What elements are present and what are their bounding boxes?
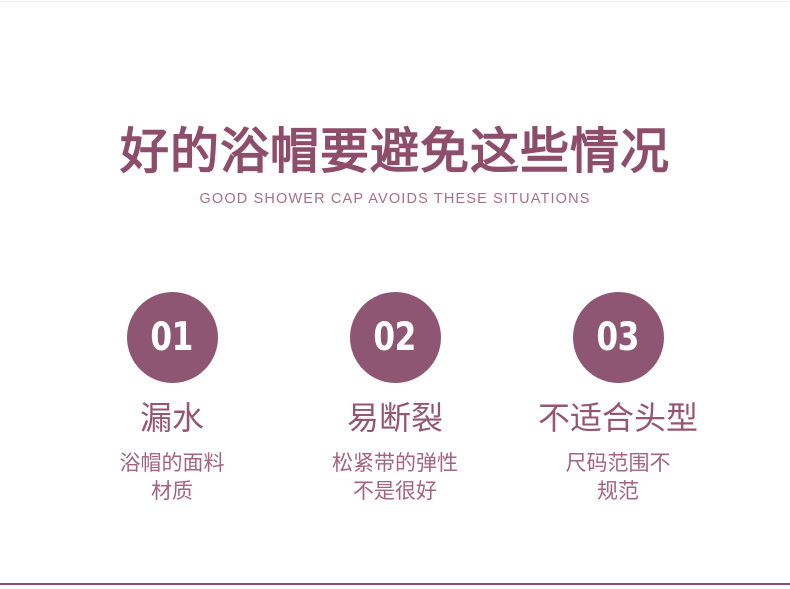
header-block: 好的浴帽要避免这些情况 GOOD SHOWER CAP AVOIDS THESE…	[0, 126, 790, 208]
feature-item-01: 01 漏水 浴帽的面料 材质	[61, 292, 284, 506]
badge-number-label: 01	[151, 318, 194, 357]
number-badge-03: 03	[573, 292, 664, 383]
number-badge-02: 02	[350, 292, 441, 383]
badge-number-label: 02	[374, 318, 417, 357]
feature-columns: 01 漏水 浴帽的面料 材质 02 易断裂 松紧带的弹性 不是很好 03 不适合…	[0, 292, 790, 506]
feature-heading-03: 不适合头型	[538, 401, 698, 437]
feature-description-01: 浴帽的面料 材质	[120, 450, 225, 506]
bottom-divider	[0, 583, 790, 585]
feature-item-03: 03 不适合头型 尺码范围不 规范	[507, 292, 730, 506]
feature-heading-01: 漏水	[140, 401, 204, 437]
feature-item-02: 02 易断裂 松紧带的弹性 不是很好	[284, 292, 507, 506]
top-divider	[0, 1, 790, 2]
promo-banner: 好的浴帽要避免这些情况 GOOD SHOWER CAP AVOIDS THESE…	[0, 0, 790, 589]
feature-description-03: 尺码范围不 规范	[566, 450, 671, 506]
number-badge-01: 01	[127, 292, 218, 383]
feature-heading-02: 易断裂	[347, 401, 443, 437]
page-subtitle: GOOD SHOWER CAP AVOIDS THESE SITUATIONS	[0, 191, 790, 208]
page-title: 好的浴帽要避免这些情况	[0, 126, 790, 179]
badge-number-label: 03	[597, 318, 640, 357]
feature-description-02: 松紧带的弹性 不是很好	[332, 450, 458, 506]
